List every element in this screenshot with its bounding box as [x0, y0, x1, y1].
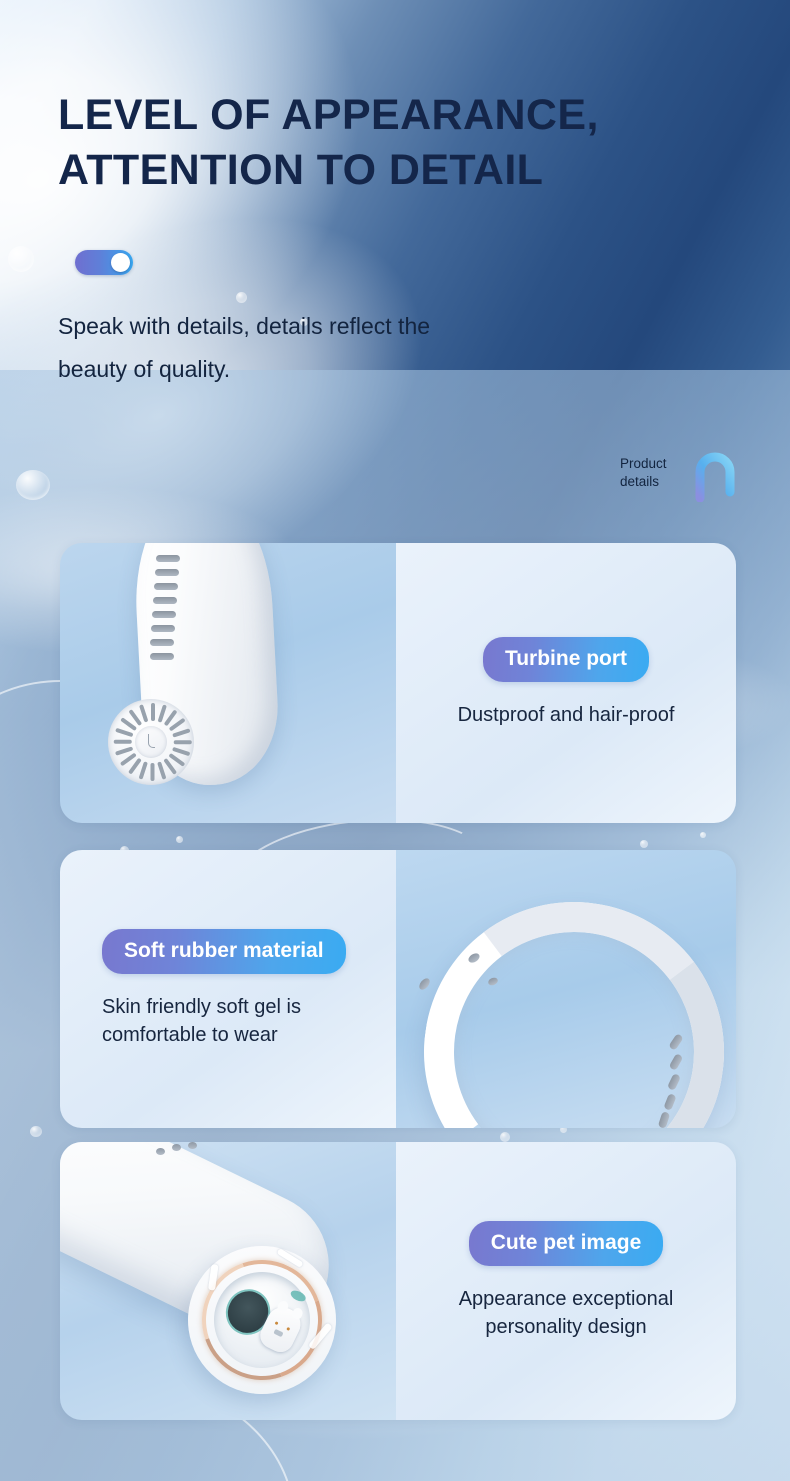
card-badge-cute-pet-image: Cute pet image	[469, 1221, 664, 1266]
card-badge-soft-rubber-material: Soft rubber material	[102, 929, 346, 974]
water-droplet	[640, 840, 648, 848]
card-description-cute-pet-image: Appearance exceptional personality desig…	[459, 1286, 674, 1341]
page-title: LEVEL OF APPEARANCE, ATTENTION TO DETAIL	[58, 88, 738, 198]
toggle-knob	[111, 253, 130, 272]
product-details-label-line-1: Product	[620, 455, 682, 473]
card-text-turbine-port: Turbine port Dustproof and hair-proof	[396, 543, 736, 823]
water-droplet	[700, 832, 706, 838]
page-title-line-2: ATTENTION TO DETAIL	[58, 143, 738, 198]
power-button-icon	[135, 726, 167, 758]
card-description-line-1: Appearance exceptional	[459, 1286, 674, 1314]
card-description-turbine-port: Dustproof and hair-proof	[458, 702, 675, 730]
water-droplet	[16, 470, 50, 500]
card-image-cute-pet-image	[60, 1142, 396, 1420]
page-subtitle-line-2: beauty of quality.	[58, 348, 578, 391]
card-description-line-1: Skin friendly soft gel is	[102, 994, 301, 1022]
decorative-toggle-switch[interactable]	[75, 250, 133, 275]
product-details-marker: Product details	[620, 450, 750, 502]
water-droplet	[30, 1126, 42, 1137]
feature-card-turbine-port[interactable]: Turbine port Dustproof and hair-proof	[60, 543, 736, 823]
neckband-arc-highlight	[405, 883, 736, 1128]
card-image-turbine-port	[60, 543, 396, 823]
page-subtitle: Speak with details, details reflect the …	[58, 305, 578, 390]
product-details-label: Product details	[620, 455, 682, 491]
page-subtitle-line-1: Speak with details, details reflect the	[58, 305, 578, 348]
water-droplet	[8, 246, 34, 272]
card-text-soft-rubber-material: Soft rubber material Skin friendly soft …	[60, 850, 396, 1128]
product-details-label-line-2: details	[620, 473, 682, 491]
card-badge-turbine-port: Turbine port	[483, 637, 649, 682]
neck-fan-arc-icon	[692, 448, 738, 502]
feature-card-cute-pet-image[interactable]: Cute pet image Appearance exceptional pe…	[60, 1142, 736, 1420]
card-description-soft-rubber-material: Skin friendly soft gel is comfortable to…	[102, 994, 301, 1049]
water-droplet	[236, 292, 247, 303]
feature-card-soft-rubber-material[interactable]: Soft rubber material Skin friendly soft …	[60, 850, 736, 1128]
card-text-cute-pet-image: Cute pet image Appearance exceptional pe…	[396, 1142, 736, 1420]
card-description-line-2: comfortable to wear	[102, 1022, 301, 1050]
page-title-line-1: LEVEL OF APPEARANCE,	[58, 88, 738, 143]
card-description-line-2: personality design	[459, 1314, 674, 1342]
turbine-grille	[108, 699, 194, 785]
water-droplet	[500, 1132, 510, 1142]
card-image-soft-rubber-material	[396, 850, 736, 1128]
